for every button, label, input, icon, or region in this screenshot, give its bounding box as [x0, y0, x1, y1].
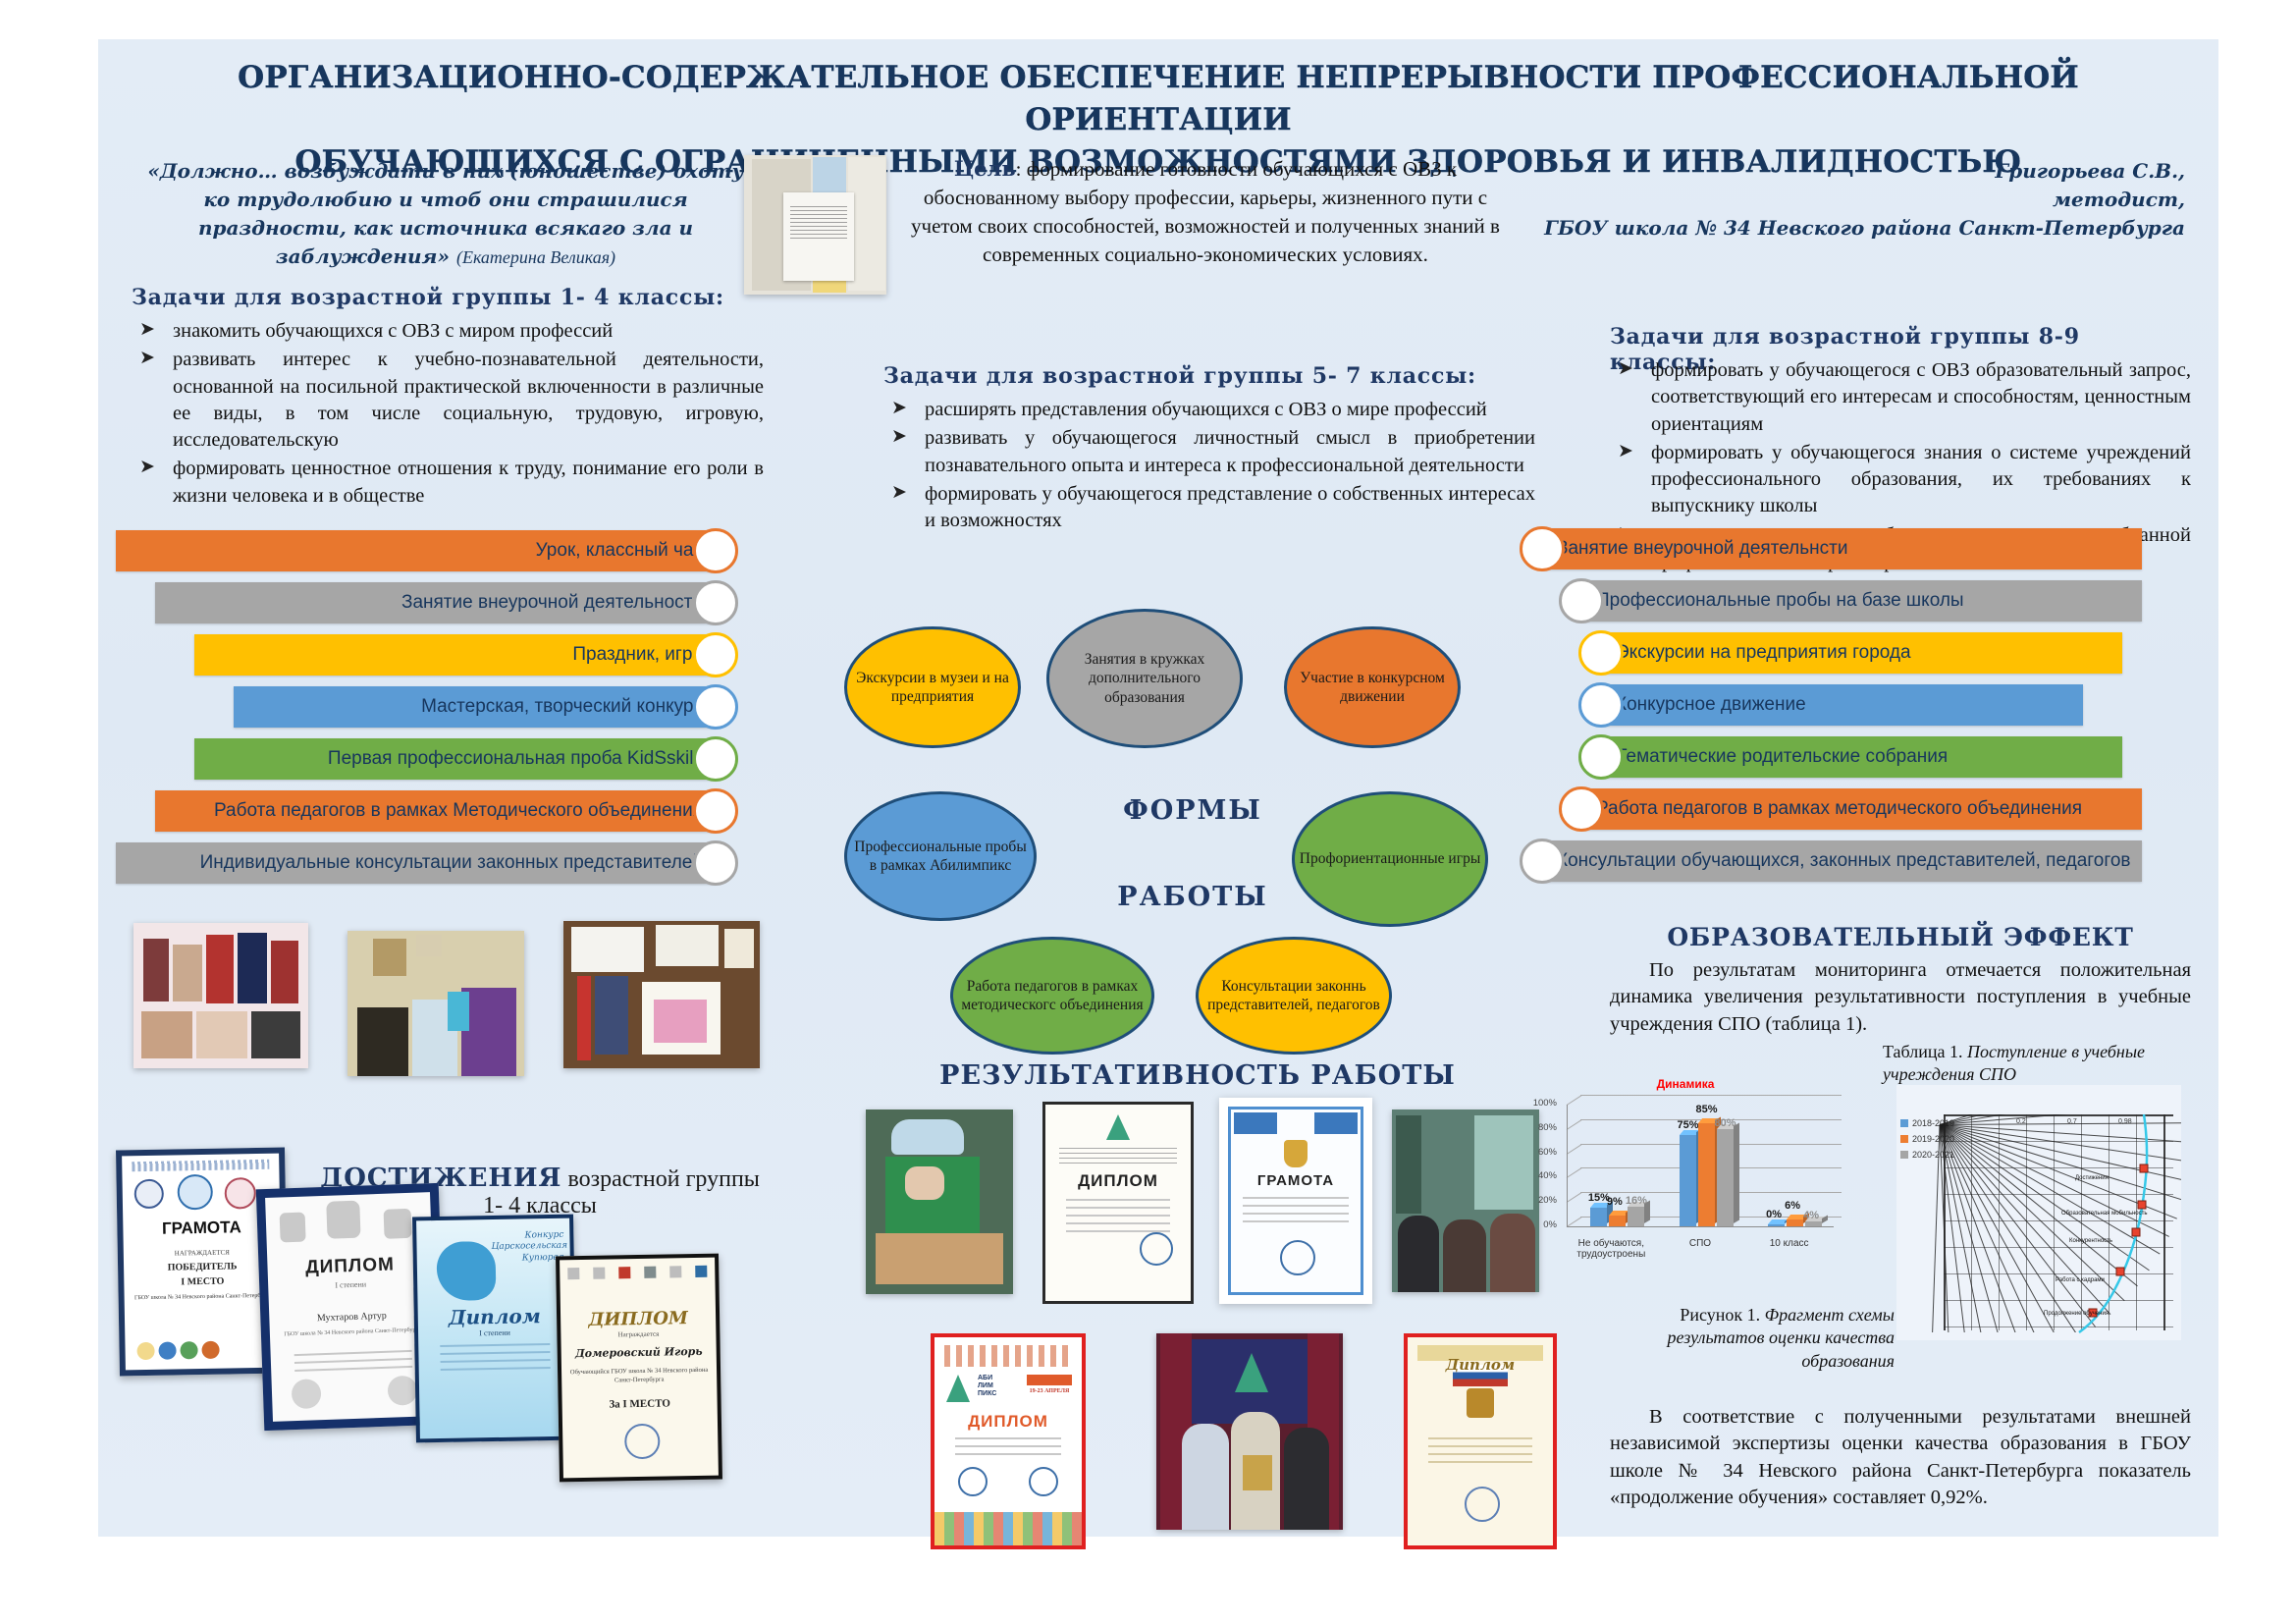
certificate-sub2: Домеровский Игорь: [561, 1344, 717, 1360]
chart-bar-face: [1609, 1216, 1626, 1226]
chart-bar-side: [1734, 1122, 1739, 1223]
tasks-5-7-heading: Задачи для возрастной группы 5- 7 классы…: [883, 363, 1531, 389]
scheme-node-label: Достижения: [2075, 1175, 2109, 1181]
bar-segment: Мастерская, творческий конкурс: [234, 686, 717, 728]
form-ellipse: Профессиональные пробы в рамках Абилимпи…: [844, 791, 1037, 921]
task-text: расширять представления обучающихся с ОВ…: [925, 399, 1487, 420]
chart-x-axis: [1567, 1226, 1834, 1227]
tasks-1-4-list: ➤знакомить обучающихся с ОВЗ с миром про…: [132, 318, 764, 512]
chart-y-tick-label: 100%: [1525, 1098, 1557, 1109]
right-bar-row: Консультации обучающихся, законных предс…: [1541, 840, 2189, 882]
photo-parents-meeting: [1392, 1110, 1539, 1292]
bullet-arrow-icon: ➤: [891, 480, 907, 505]
left-bar-row: Занятие внеурочной деятельности: [116, 582, 764, 623]
certificate-title: Диплом: [418, 1303, 571, 1329]
left-bar-row: Работа педагогов в рамках Методического …: [116, 790, 764, 832]
chart-y-axis: [1567, 1105, 1568, 1226]
form-ellipse-label: Занятия в кружках дополнительного образо…: [1053, 650, 1236, 707]
chart-bar: [1717, 1129, 1734, 1226]
achievements-heading-rest: возрастной группы: [561, 1166, 759, 1192]
right-bar-row: Тематические родительские собрания: [1541, 736, 2189, 778]
scheme-axis-value: 0,7: [2067, 1118, 2077, 1125]
bar-knob-icon: [693, 840, 738, 886]
bar-knob-icon: [1559, 786, 1604, 832]
certificate-title: ДИПЛОМ: [1045, 1171, 1191, 1191]
certificate-title: ДИПЛОМ: [934, 1412, 1082, 1432]
bar-segment: Экскурсии на предприятия города: [1600, 632, 2122, 674]
bar-knob-icon: [693, 736, 738, 782]
chart-bar: [1680, 1135, 1696, 1226]
photo-craft-works: [133, 923, 308, 1068]
chart-data-label: 6%: [1785, 1200, 1800, 1212]
bullet-arrow-icon: ➤: [139, 317, 155, 342]
tasks-1-4-heading: Задачи для возрастной группы 1- 4 классы…: [132, 285, 760, 310]
bullet-arrow-icon: ➤: [891, 424, 907, 449]
form-ellipse: Работа педагогов в рамках методическогс …: [950, 937, 1154, 1055]
list-item: ➤расширять представления обучающихся с О…: [883, 397, 1535, 423]
bar-segment: Занятие внеурочной деятельнсти: [1541, 528, 2142, 569]
photo-abilympics-award: [1156, 1333, 1343, 1530]
form-ellipse: Профориентационные игры: [1292, 791, 1488, 927]
table-caption-number: Таблица 1.: [1883, 1042, 1962, 1061]
right-bar-row: Работа педагогов в рамках методического …: [1541, 788, 2189, 830]
scheme-node-label: Работа с кадрами: [2056, 1277, 2105, 1283]
form-ellipse-label: Экскурсии в музеи и на предприятия: [851, 669, 1014, 707]
chart-bar-face: [1590, 1208, 1607, 1226]
bar-knob-icon: [1578, 630, 1624, 676]
edu-effect-paragraph-2: В соответствие с полученными результатам…: [1610, 1404, 2191, 1511]
certificate-diplom-3: ДИПЛОМ Награждается Домеровский Игорь Об…: [556, 1254, 722, 1483]
certificate-org: ГБОУ школа № 34 Невского района Санкт-Пе…: [133, 1292, 274, 1302]
chart-bar-side: [1822, 1216, 1828, 1223]
dynamics-bar-chart: Динамика 0%20%40%60%80%100%15%9%16%Не об…: [1523, 1075, 1847, 1262]
chart-data-label: 16%: [1626, 1195, 1647, 1207]
form-ellipse-label: Консультации законнь представителей, пед…: [1202, 977, 1385, 1015]
right-bar-row: Конкурсное движение: [1541, 684, 2189, 726]
poster-canvas: ОРГАНИЗАЦИОННО-СОДЕРЖАТЕЛЬНОЕ ОБЕСПЕЧЕНИ…: [98, 39, 2218, 1537]
bullet-arrow-icon: ➤: [1618, 356, 1633, 381]
certificate-diplom-result-1: ДИПЛОМ: [1042, 1102, 1194, 1304]
certificate-sub1: НАГРАЖДАЕТСЯ: [124, 1248, 281, 1259]
chart-bar: [1628, 1207, 1644, 1226]
chart-gridline: [1580, 1095, 1842, 1096]
bar-segment: Индивидуальные консультации законных пре…: [116, 842, 717, 884]
bullet-arrow-icon: ➤: [1618, 439, 1633, 463]
chart-bar: [1698, 1123, 1715, 1226]
bar-segment: Первая профессиональная проба KidSskils: [194, 738, 717, 780]
left-bar-row: Индивидуальные консультации законных пре…: [116, 842, 764, 884]
form-ellipse-label: Профессиональные пробы в рамках Абилимпи…: [851, 838, 1030, 876]
task-text: развивать у обучающегося личностный смыс…: [925, 427, 1535, 475]
scheme-node-label: Образовательная мобильность: [2061, 1211, 2147, 1217]
form-ellipse: Участие в конкурсном движении: [1284, 626, 1461, 748]
chart-data-label: 85%: [1696, 1104, 1718, 1115]
bar-segment: Праздник, игра: [194, 634, 717, 676]
certificate-sub1: I степени: [268, 1277, 433, 1292]
task-text: формировать у обучающегося представление…: [925, 483, 1535, 531]
results-heading: РЕЗУЛЬТАТИВНОСТЬ РАБОТЫ: [864, 1060, 1531, 1091]
bar-segment: Урок, классный час: [116, 530, 717, 571]
form-ellipse-label: Участие в конкурсном движении: [1291, 669, 1454, 707]
bar-segment: Работа педагогов в рамках методического …: [1580, 788, 2142, 830]
scheme-node-label: Продолжение обучения: [2044, 1311, 2109, 1317]
author-name: Григорьева С.В.,: [1541, 157, 2185, 186]
task-text: формировать у обучающегося с ОВЗ образов…: [1651, 359, 2191, 435]
form-ellipse-label: Профориентационные игры: [1300, 849, 1480, 868]
certificate-diplom-2: Конкурс Царскосельская Купюрея Диплом I …: [412, 1215, 577, 1443]
form-ellipse: Консультации законнь представителей, пед…: [1196, 937, 1392, 1055]
chart-depth-tick: [1567, 1192, 1582, 1203]
certificate-org: Обучающийся ГБОУ школа № 34 Невского рай…: [569, 1367, 709, 1386]
list-item: ➤формировать у обучающегося с ОВЗ образо…: [1610, 357, 2191, 438]
scheme-axis-value: 0,2: [2016, 1118, 2026, 1125]
bar-segment: Тематические родительские собрания: [1600, 736, 2122, 778]
certificate-title: ДИПЛОМ: [561, 1308, 716, 1331]
certificate-diplom-abilympics: АБИЛИМПИКС 19-23 АПРЕЛЯ ДИПЛОМ: [931, 1333, 1086, 1549]
table-caption: Таблица 1. Поступление в учебные учрежде…: [1883, 1041, 2177, 1087]
certificate-sub3: За I МЕСТО: [562, 1397, 718, 1412]
left-bar-row: Праздник, игра: [116, 634, 764, 676]
bar-label: Занятие внеурочной деятельнсти: [1557, 538, 1847, 560]
epigraph-author: (Екатерина Великая): [456, 247, 615, 267]
bar-knob-icon: [1559, 578, 1604, 623]
certificate-org: ГБОУ школа № 34 Невского района Санкт-Пе…: [280, 1326, 425, 1337]
chart-y-tick-label: 0%: [1525, 1219, 1557, 1230]
bar-label: Консультации обучающихся, законных предс…: [1557, 850, 2131, 872]
bar-label: Профессиональные пробы на базе школы: [1596, 590, 1964, 612]
goal-label: Цель: [954, 156, 1016, 181]
chart-bar: [1609, 1216, 1626, 1226]
bar-knob-icon: [1578, 682, 1624, 728]
chart-x-category-label: 10 класс: [1727, 1238, 1851, 1249]
epigraph: «Должно… возбуждати в них (юношестве) ох…: [132, 157, 760, 271]
chart-y-tick-label: 60%: [1525, 1147, 1557, 1158]
chart-bar: [1590, 1208, 1607, 1226]
bar-knob-icon: [693, 788, 738, 834]
bar-segment: Консультации обучающихся, законных предс…: [1541, 840, 2142, 882]
certificate-sub2: Мухтаров Артур: [269, 1309, 434, 1326]
bar-segment: Конкурсное движение: [1600, 684, 2083, 726]
figure-caption: Рисунок 1. Фрагмент схемы результатов оц…: [1649, 1304, 1895, 1373]
left-process-bars: Урок, классный часЗанятие внеурочной дея…: [116, 530, 764, 894]
form-ellipse: Занятия в кружках дополнительного образо…: [1046, 609, 1243, 748]
bar-knob-icon: [693, 528, 738, 573]
chart-data-label: 75%: [1678, 1119, 1699, 1131]
tasks-5-7-list: ➤расширять представления обучающихся с О…: [883, 397, 1535, 536]
bar-label: Конкурсное движение: [1616, 694, 1806, 716]
task-text: формировать ценностное отношения к труду…: [173, 458, 764, 506]
bar-label: Мастерская, творческий конкурс: [421, 696, 703, 718]
chart-bar-face: [1628, 1207, 1644, 1226]
bullet-arrow-icon: ➤: [891, 396, 907, 420]
certificate-diplom-result-2: Диплом: [1404, 1333, 1557, 1549]
scheme-node-label: Конкурентность: [2069, 1238, 2112, 1244]
chart-data-label: 80%: [1715, 1117, 1736, 1129]
task-text: развивать интерес к учебно-познавательно…: [173, 349, 764, 451]
right-process-bars: Занятие внеурочной деятельнстиПрофессион…: [1541, 528, 2189, 893]
chart-depth-tick: [1567, 1168, 1582, 1179]
right-bar-row: Экскурсии на предприятия города: [1541, 632, 2189, 674]
goal-block: Цель: формирование готовности обучающихс…: [901, 155, 1510, 269]
left-bar-row: Первая профессиональная проба KidSskils: [116, 738, 764, 780]
chart-bar-face: [1805, 1221, 1822, 1226]
list-item: ➤формировать у обучающегося знания о сис…: [1610, 440, 2191, 520]
scheme-axis-value: 0,98: [2118, 1118, 2132, 1125]
chart-data-label: 9%: [1607, 1196, 1623, 1208]
chart-bar-face: [1717, 1129, 1734, 1226]
chart-y-tick-label: 40%: [1525, 1170, 1557, 1181]
list-item: ➤формировать ценностное отношения к труд…: [132, 456, 764, 510]
list-item: ➤знакомить обучающихся с ОВЗ с миром про…: [132, 318, 764, 345]
bar-label: Тематические родительские собрания: [1616, 746, 1948, 768]
figure-caption-number: Рисунок 1.: [1680, 1305, 1760, 1325]
bar-segment: Занятие внеурочной деятельности: [155, 582, 717, 623]
list-item: ➤развивать интерес к учебно-познавательн…: [132, 347, 764, 454]
bar-label: Индивидуальные консультации законных пре…: [200, 852, 703, 874]
edu-effect-heading: ОБРАЗОВАТЕЛЬНЫЙ ЭФФЕКТ: [1610, 923, 2191, 951]
bullet-arrow-icon: ➤: [139, 455, 155, 479]
right-bar-row: Профессиональные пробы на базе школы: [1541, 580, 2189, 622]
bar-knob-icon: [693, 580, 738, 625]
chart-bar: [1768, 1224, 1785, 1226]
chart-data-label: 0%: [1766, 1209, 1782, 1220]
right-bar-row: Занятие внеурочной деятельнсти: [1541, 528, 2189, 569]
left-bar-row: Мастерская, творческий конкурс: [116, 686, 764, 728]
bar-label: Экскурсии на предприятия города: [1616, 642, 1911, 664]
bar-knob-icon: [693, 632, 738, 677]
chart-depth-tick: [1567, 1144, 1582, 1155]
bar-label: Праздник, игра: [572, 644, 703, 666]
form-ellipse: Экскурсии в музеи и на предприятия: [844, 626, 1021, 748]
chart-bar-face: [1698, 1123, 1715, 1226]
bar-label: Первая профессиональная проба KidSskils: [328, 748, 703, 770]
chart-bar-face: [1680, 1135, 1696, 1226]
bar-knob-icon: [1520, 526, 1565, 571]
bar-knob-icon: [1578, 734, 1624, 780]
chart-y-tick-label: 80%: [1525, 1122, 1557, 1133]
bar-segment: Профессиональные пробы на базе школы: [1580, 580, 2142, 622]
forms-center-line-2: РАБОТЫ: [1050, 882, 1335, 912]
quality-assessment-scheme-figure: 2018-20192019-20202020-20210,20,70,98Дос…: [1896, 1085, 2181, 1340]
left-bar-row: Урок, классный час: [116, 530, 764, 571]
list-item: ➤формировать у обучающегося представлени…: [883, 481, 1535, 535]
certificate-sub2: ПОБЕДИТЕЛЬ: [124, 1261, 281, 1274]
certificate-sub1: Конкурс Царскосельская Купюрея: [491, 1230, 564, 1265]
photo-children-puppets: [347, 931, 524, 1076]
form-ellipse-label: Работа педагогов в рамках методическогс …: [957, 977, 1148, 1015]
bullet-arrow-icon: ➤: [139, 346, 155, 370]
chart-bar-face: [1787, 1219, 1803, 1226]
certificate-title: ГРАМОТА: [1222, 1172, 1369, 1189]
forms-center-line-1: ФОРМЫ: [1050, 795, 1335, 826]
edu-effect-paragraph-1: По результатам мониторинга отмечается по…: [1610, 957, 2191, 1038]
bar-label: Занятие внеурочной деятельности: [401, 592, 703, 614]
bar-label: Работа педагогов в рамках методического …: [1596, 798, 2082, 820]
author-org: ГБОУ школа № 34 Невского района Санкт-Пе…: [1541, 214, 2185, 243]
certificate-gramota-result: ГРАМОТА: [1219, 1098, 1372, 1304]
task-text: формировать у обучающегося знания о сист…: [1651, 442, 2191, 517]
chart-depth-tick: [1567, 1119, 1582, 1130]
photo-woodwork-abilympics: [866, 1110, 1013, 1294]
forms-of-work-diagram: ФОРМЫ РАБОТЫ Экскурсии в музеи и на пред…: [844, 609, 1551, 1070]
photo-drawing-activity: [563, 921, 760, 1068]
author-block: Григорьева С.В., методист, ГБОУ школа № …: [1541, 157, 2185, 243]
chart-bar: [1805, 1221, 1822, 1226]
epigraph-quote: «Должно… возбуждати в них (юношестве) ох…: [147, 159, 743, 268]
photo-program-documents: [744, 155, 886, 295]
bar-knob-icon: [693, 684, 738, 730]
chart-y-tick-label: 20%: [1525, 1195, 1557, 1206]
chart-depth-tick: [1567, 1095, 1582, 1106]
task-text: знакомить обучающихся с ОВЗ с миром проф…: [173, 320, 613, 342]
page-title-line-1: ОРГАНИЗАЦИОННО-СОДЕРЖАТЕЛЬНОЕ ОБЕСПЕЧЕНИ…: [137, 57, 2179, 141]
author-role: методист,: [1541, 186, 2185, 214]
bar-segment: Работа педагогов в рамках Методического …: [155, 790, 717, 832]
bar-label: Урок, классный час: [536, 540, 703, 562]
certificate-sub3: I МЕСТО: [124, 1275, 281, 1289]
certificate-sub1: Награждается: [561, 1329, 716, 1340]
certificate-sub2: I степени: [418, 1327, 571, 1339]
certificate-title: Диплом: [1408, 1356, 1553, 1374]
list-item: ➤развивать у обучающегося личностный смы…: [883, 425, 1535, 479]
bar-label: Работа педагогов в рамках Методического …: [214, 800, 703, 822]
chart-bar: [1787, 1219, 1803, 1226]
chart-data-label: 4%: [1803, 1210, 1819, 1221]
certificate-title: ДИПЛОМ: [267, 1253, 433, 1280]
chart-bar-face: [1768, 1224, 1785, 1226]
